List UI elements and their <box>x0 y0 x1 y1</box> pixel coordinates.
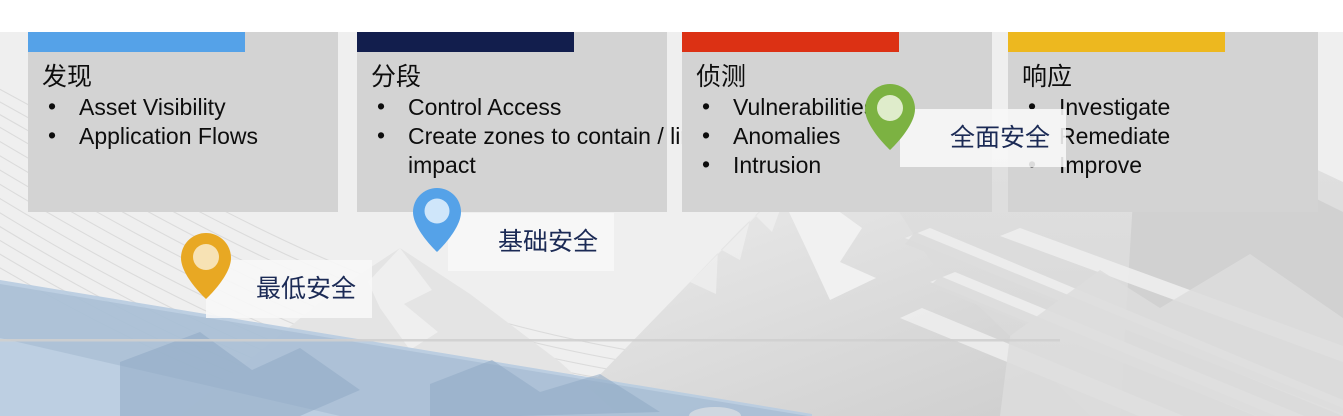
map-pin-icon <box>178 231 234 301</box>
pin-label-basic-security: 基础安全 <box>448 213 614 271</box>
pin-label-comprehensive-security: 全面安全 <box>900 109 1066 167</box>
map-pin-icon <box>410 186 464 254</box>
map-pin-icon <box>862 82 918 152</box>
pin-callout-layer: 全面安全 基础安全 最低安全 <box>0 0 1343 416</box>
slide-canvas: 发现 Asset Visibility Application Flows 分段… <box>0 0 1343 416</box>
